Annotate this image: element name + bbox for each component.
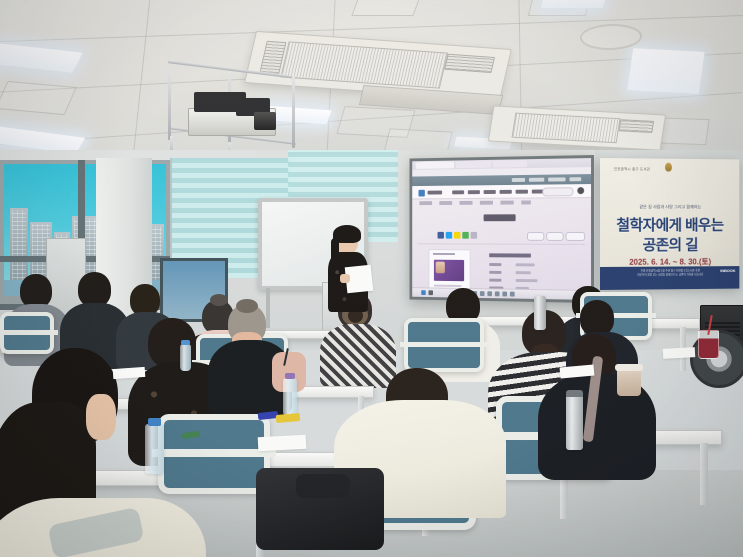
chair-foreground[interactable] <box>158 414 270 494</box>
author-portrait-icon <box>436 262 445 274</box>
banner-title-line1: 철학자에게 배우는 <box>600 214 739 235</box>
projector-mount-cage <box>168 68 296 160</box>
book-cover-thumbnail[interactable] <box>434 260 464 282</box>
share-facebook-icon[interactable] <box>438 232 444 239</box>
share-kakao-icon[interactable] <box>454 232 460 239</box>
search-input[interactable] <box>542 187 573 196</box>
banner-title-line2: 공존의 길 <box>600 234 739 255</box>
banner-credits-line2: 인문학의 길을 걷는 사람들 함께 만드는 공존의 가치를 나눕니다 <box>637 273 703 276</box>
list-button[interactable] <box>527 232 544 241</box>
ceiling-light-panel <box>541 0 607 8</box>
water-bottle[interactable] <box>145 424 164 474</box>
site-navigation-bar[interactable] <box>412 184 591 199</box>
smoke-detector-icon <box>578 24 645 50</box>
chair[interactable] <box>404 318 484 372</box>
metadata-heading <box>489 253 531 257</box>
water-bottle[interactable] <box>283 378 297 416</box>
event-banner: 인천광역시 중구 도서관 같은 길 사람과 사랑 그리고 함께하는 철학자에게 … <box>600 158 739 290</box>
library-logo-icon[interactable] <box>419 190 425 197</box>
banner-credits: 주최 인천광역시중구청 주관 중구 인천중구립도서관 후원 인문학의 길을 걷는… <box>606 269 734 278</box>
water-bottle[interactable] <box>180 344 191 371</box>
thermos-bottle[interactable] <box>566 394 583 450</box>
ceiling-light-panel <box>0 43 83 72</box>
ceiling-ac-unit <box>488 105 666 150</box>
print-button[interactable] <box>566 232 586 241</box>
ceiling <box>0 0 743 175</box>
highlighter[interactable] <box>276 413 301 423</box>
library-emblem-icon <box>665 163 672 172</box>
handout-paper[interactable] <box>258 435 307 451</box>
projected-browser-page <box>412 158 591 300</box>
projector-lens-icon <box>254 112 276 130</box>
lecture-room-photo: 인천광역시 중구 도서관 같은 길 사람과 사랑 그리고 함께하는 철학자에게 … <box>0 0 743 557</box>
ceiling-light-panel <box>627 48 704 94</box>
handout-paper[interactable] <box>663 347 695 359</box>
banner-subtitle: 같은 길 사람과 사랑 그리고 함께하는 <box>600 204 739 210</box>
share-twitter-icon[interactable] <box>446 232 452 239</box>
share-band-icon[interactable] <box>462 232 468 239</box>
windows-taskbar[interactable] <box>412 287 591 300</box>
save-button[interactable] <box>546 232 563 241</box>
page-title <box>484 214 516 221</box>
coffee-cup[interactable] <box>617 368 641 396</box>
banner-credits-line1: 주최 인천광역시중구청 주관 중구 인천중구립도서관 후원 <box>641 269 700 272</box>
breadcrumb <box>419 200 530 205</box>
banner-sponsor-logo: INBOOK <box>720 268 735 273</box>
chair[interactable] <box>0 312 54 354</box>
projection-screen <box>410 155 594 303</box>
banner-footer: 주최 인천광역시중구청 주관 중구 인천중구립도서관 후원 인문학의 길을 걷는… <box>600 266 739 290</box>
share-print-icon[interactable] <box>471 232 477 239</box>
thermos-bottle[interactable] <box>534 296 546 330</box>
user-avatar-icon[interactable] <box>577 187 584 194</box>
banner-host-line: 인천광역시 중구 도서관 <box>614 166 650 171</box>
